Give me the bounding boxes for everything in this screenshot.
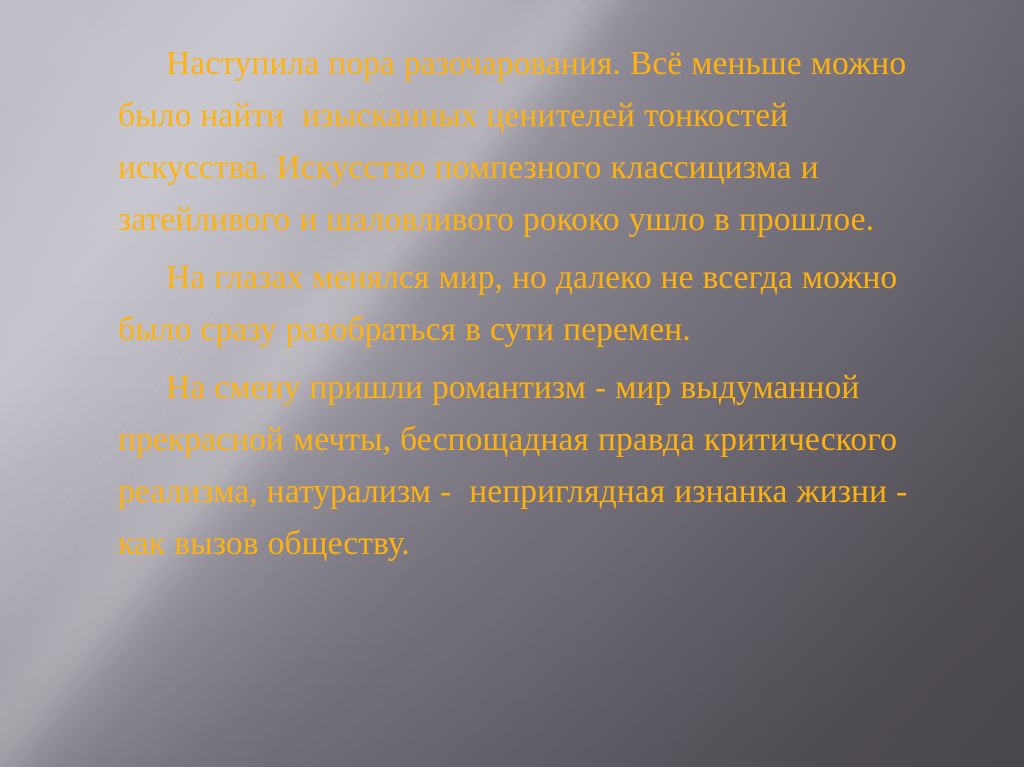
body-paragraph-3: На смену пришли романтизм - мир выдуманн… <box>118 362 930 570</box>
slide-body-text: Наступила пора разочарования. Всё меньше… <box>118 38 930 576</box>
body-paragraph-1: Наступила пора разочарования. Всё меньше… <box>118 38 930 246</box>
presentation-slide: Наступила пора разочарования. Всё меньше… <box>0 0 1024 767</box>
body-paragraph-2: На глазах менялся мир, но далеко не всег… <box>118 252 930 356</box>
